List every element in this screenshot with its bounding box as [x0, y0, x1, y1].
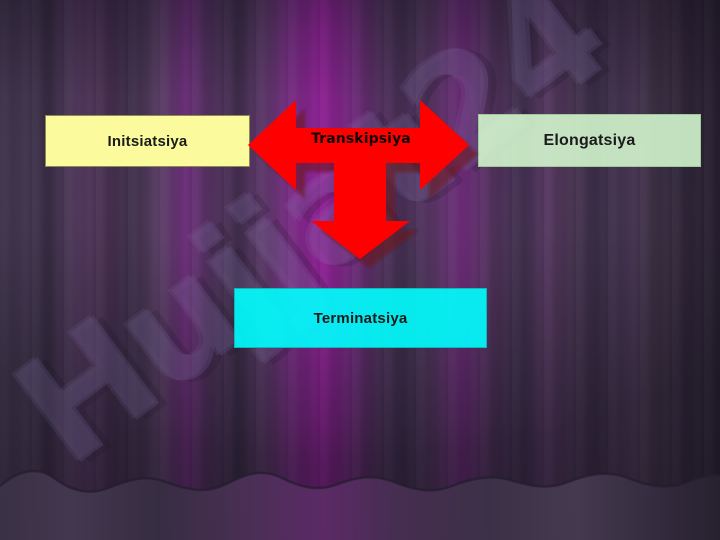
- node-label-initsiatsiya: Initsiatsiya: [108, 133, 188, 150]
- slide-canvas: Hujjat24 Hujjat24 Hujjat24 Initsiatsiya …: [0, 0, 720, 540]
- node-box-initsiatsiya[interactable]: Initsiatsiya: [45, 115, 250, 167]
- curtain-background: [0, 0, 720, 540]
- node-box-elongatsiya[interactable]: Elongatsiya: [478, 114, 701, 167]
- node-label-terminatsiya: Terminatsiya: [314, 310, 408, 327]
- node-box-terminatsiya[interactable]: Terminatsiya: [234, 288, 487, 348]
- center-arrow-label: Transkipsiya: [288, 131, 434, 147]
- node-label-elongatsiya: Elongatsiya: [543, 132, 635, 150]
